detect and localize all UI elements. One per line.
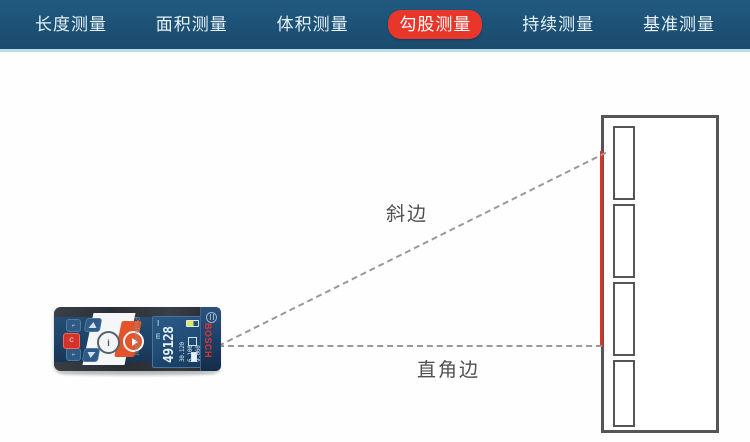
device-button-info[interactable]: i — [97, 331, 120, 354]
battery-icon — [186, 320, 199, 327]
tab-area-measurement[interactable]: 面积测量 — [147, 10, 237, 39]
base-label: 直角边 — [417, 355, 480, 382]
screen-statusbar — [186, 320, 199, 327]
base-measure-line — [218, 345, 602, 347]
screen-main-unit: m — [155, 333, 162, 339]
measurement-mode-tabbar: 长度测量 面积测量 体积测量 勾股测量 持续测量 基准测量 — [0, 0, 750, 52]
building-window — [613, 126, 635, 200]
app-root: 长度测量 面积测量 体积测量 勾股测量 持续测量 基准测量 斜边 直角边 — [0, 0, 750, 442]
tab-volume-measurement[interactable]: 体积测量 — [268, 10, 358, 39]
screen-main-value: 49128 — [162, 326, 177, 363]
device-button-unit[interactable]: ⌐ — [66, 319, 81, 332]
device-button-down[interactable] — [82, 348, 100, 362]
brand-logo: BOSCH — [203, 323, 213, 358]
triangle-down-icon — [86, 352, 95, 358]
device-sub-brand: Professional — [133, 317, 139, 356]
building-window — [613, 282, 635, 356]
device-button-up[interactable] — [84, 318, 102, 332]
device-shadow — [58, 371, 216, 376]
hypotenuse-measure-line — [218, 152, 606, 347]
laser-distance-meter: ⌐ ⌐ C i Professional I 49128 m — [54, 303, 220, 375]
tab-pythagorean-measurement[interactable]: 勾股测量 — [388, 10, 482, 39]
building-outline — [601, 115, 719, 433]
device-button-clear[interactable]: C — [63, 333, 80, 349]
triangle-up-icon — [88, 322, 97, 328]
target-edge-highlight — [600, 151, 603, 347]
bosch-emblem-icon — [206, 312, 217, 323]
screen-value-row: 30.120 — [179, 342, 186, 362]
screen-secondary-values: 30.120 6.100 9.060 — [179, 342, 202, 362]
device-screen: I 49128 m 30.120 6.100 9.060 — [152, 316, 202, 368]
building-window — [613, 360, 635, 427]
device-body: ⌐ ⌐ C i Professional I 49128 m — [54, 307, 220, 371]
diagram-stage: 斜边 直角边 ⌐ ⌐ C i Professional I — [0, 55, 750, 442]
tab-reference-measurement[interactable]: 基准测量 — [634, 10, 724, 39]
building-window — [613, 204, 635, 278]
tab-continuous-measurement[interactable]: 持续测量 — [513, 10, 603, 39]
tab-length-measurement[interactable]: 长度测量 — [26, 10, 116, 39]
device-end-cap: BOSCH — [200, 307, 221, 371]
hypotenuse-label: 斜边 — [386, 199, 428, 226]
device-button-ref[interactable]: ⌐ — [66, 348, 81, 361]
screen-value-row: 6.100 — [187, 342, 194, 362]
